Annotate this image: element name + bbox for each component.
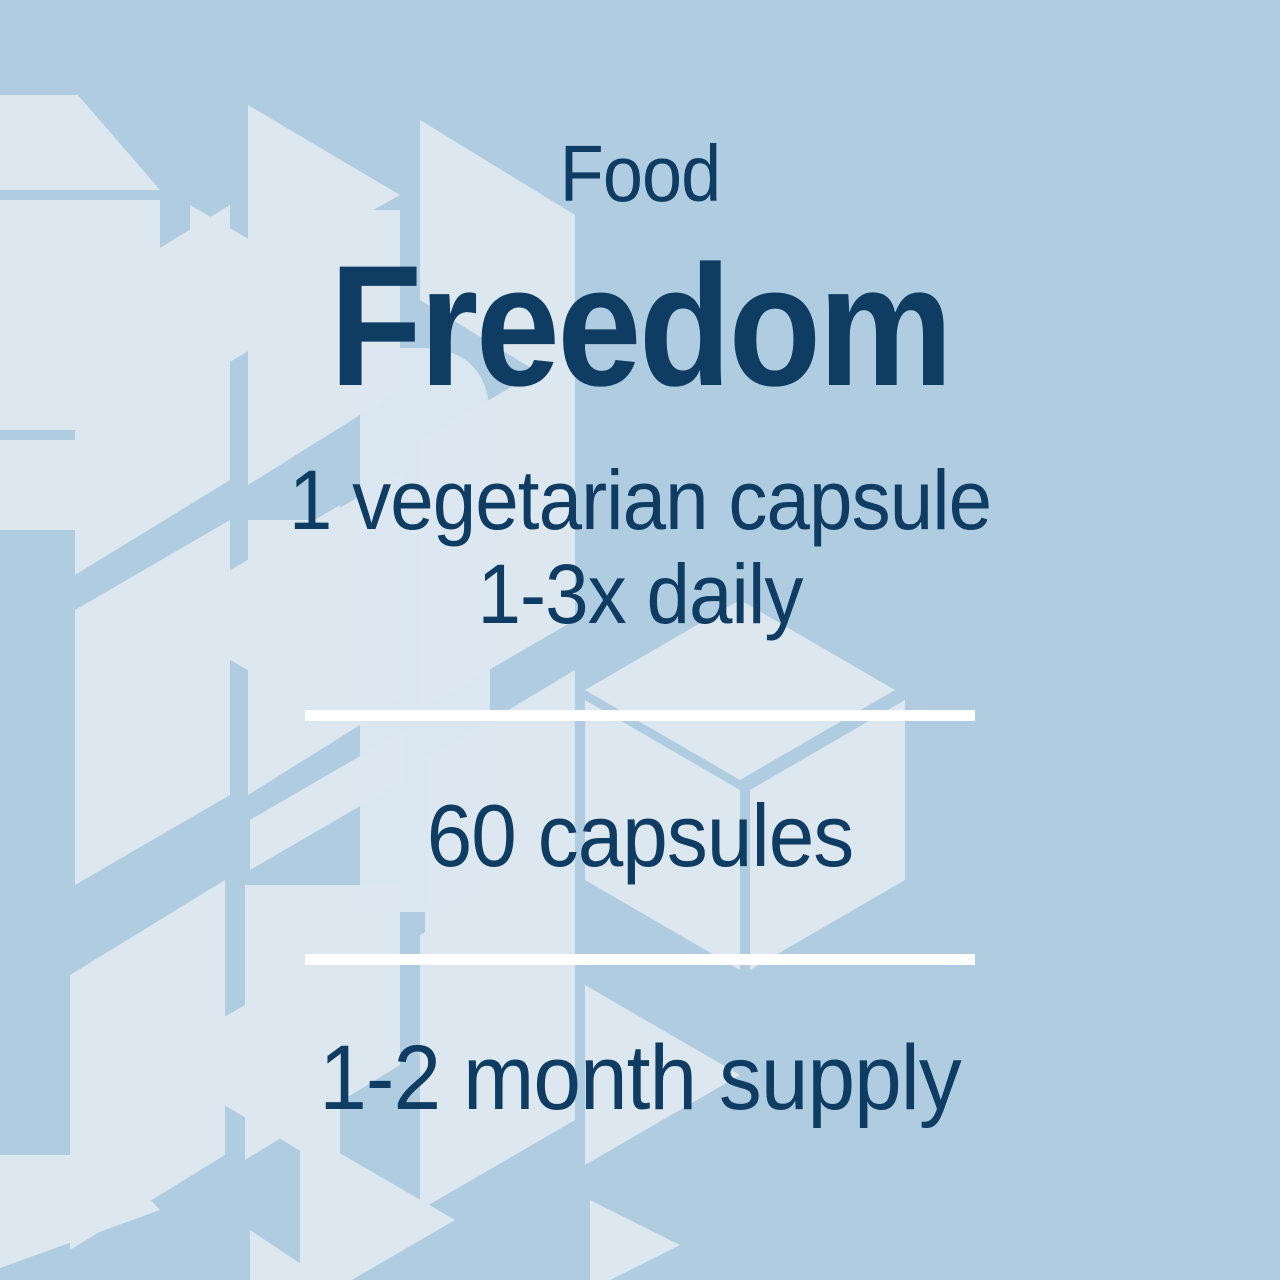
- dosage-line-1: 1 vegetarian capsule: [45, 452, 1235, 549]
- product-info-panel: Food Freedom 1 vegetarian capsule 1-3x d…: [0, 0, 1280, 1280]
- product-brand-title: Freedom: [77, 227, 1203, 425]
- supply-duration: 1-2 month supply: [45, 1026, 1235, 1131]
- dosage-line-2: 1-3x daily: [45, 546, 1235, 643]
- divider-rule-bottom: [305, 954, 975, 965]
- product-kicker: Food: [64, 128, 1216, 220]
- text-content: Food Freedom 1 vegetarian capsule 1-3x d…: [0, 0, 1280, 1280]
- divider-rule-top: [305, 710, 975, 721]
- capsule-count: 60 capsules: [45, 785, 1235, 887]
